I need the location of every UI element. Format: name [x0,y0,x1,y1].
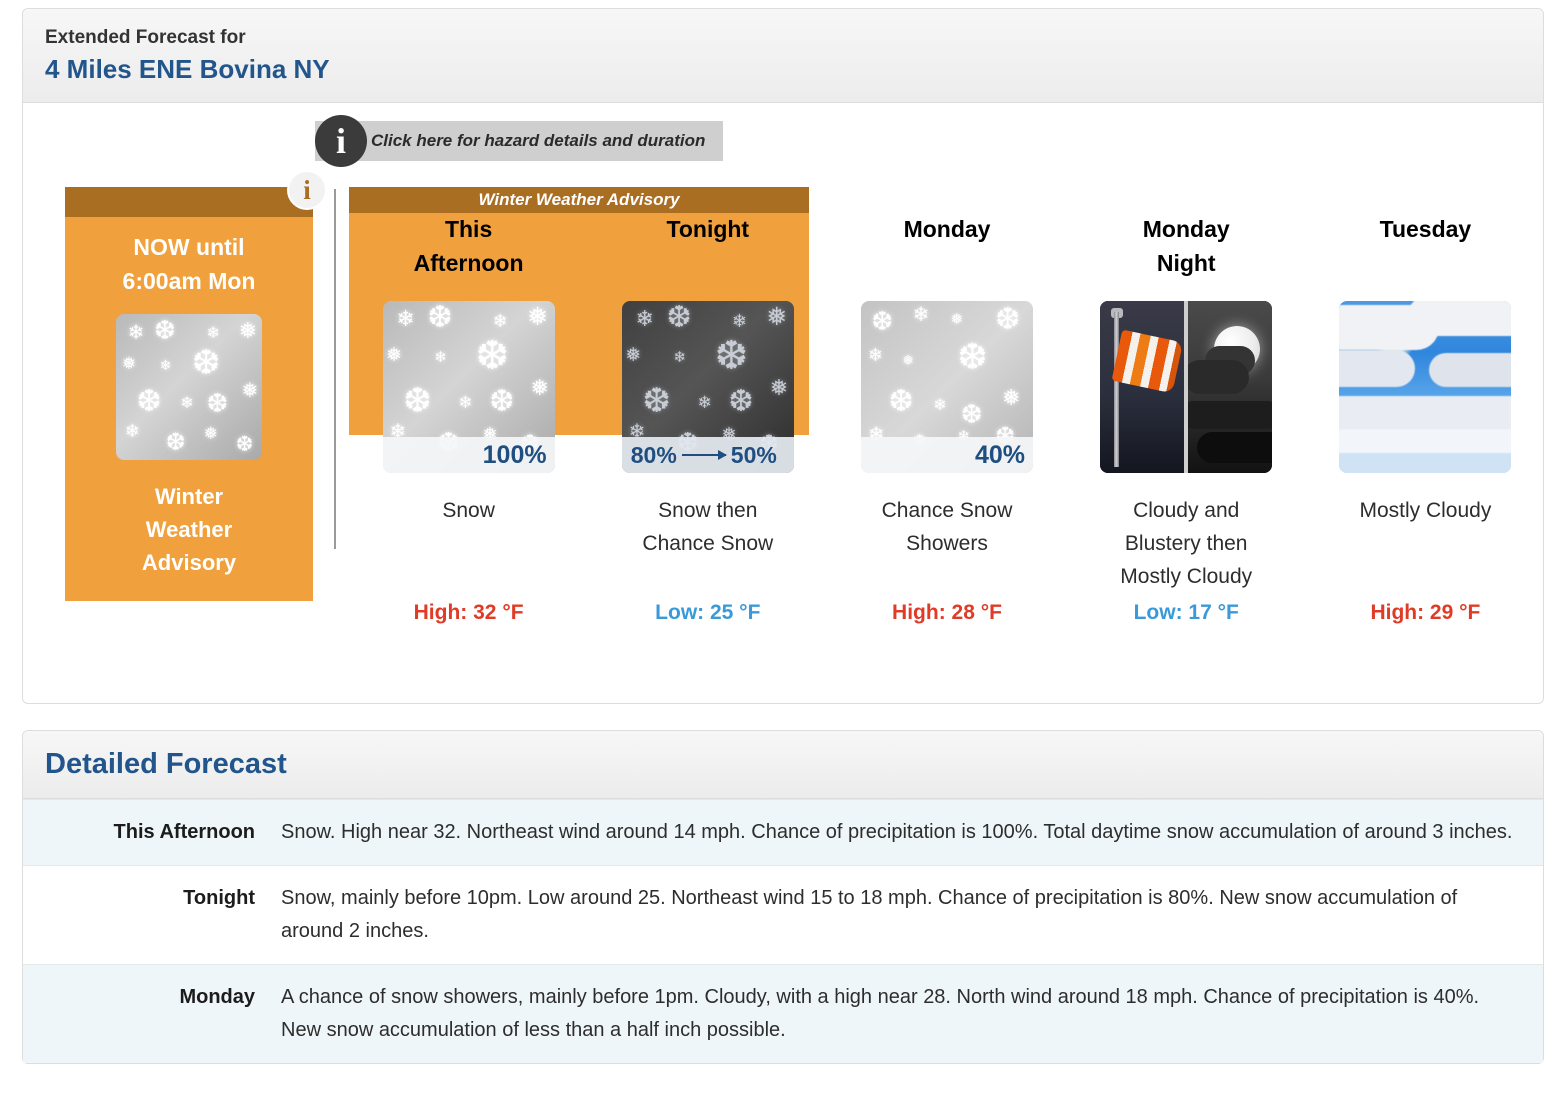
description-line2: Chance Snow [642,528,773,561]
detailed-forecast-table: This Afternoon Snow. High near 32. North… [23,799,1543,1063]
forecast-column-monday[interactable]: Monday ❆ ❄ ❅ ❆ ❄ ❅ ❆ [827,213,1066,625]
forecast-period-title: This Afternoon [414,213,524,283]
advisory-card-label: Winter Weather Advisory [142,480,236,579]
page-title[interactable]: 4 Miles ENE Bovina NY [45,53,1521,87]
mast [1114,312,1119,467]
description-line1: Chance Snow [882,495,1013,528]
advisory-icon-wrap: ❄ ❆ ❄ ❅ ❅ ❄ ❆ ❆ ❄ ❆ ❅ ❄ ❆ [116,314,262,460]
forecast-period-title: Monday Night [1143,213,1230,283]
period-title-line1: Monday [1143,213,1230,246]
detailed-forecast-header: Detailed Forecast [23,731,1543,799]
forecast-description: Cloudy and Blustery then Mostly Cloudy [1120,495,1252,595]
forecast-description: Snow [442,495,495,595]
snow-icon: ❄ ❆ ❄ ❅ ❅ ❄ ❆ ❆ ❄ ❆ ❅ ❄ [383,301,555,473]
windsock [1112,330,1184,393]
forecast-icon-wrap [1339,301,1511,473]
active-advisory-card[interactable]: i NOW until 6:00am Mon ❄ ❆ ❄ ❅ ❅ ❄ [65,187,313,601]
hazard-link-label: Click here for hazard details and durati… [371,131,705,151]
description-line1: Cloudy and [1120,495,1252,528]
advisory-band-title: Winter Weather Advisory [349,187,809,213]
forecast-temperature: High: 32 °F [414,601,524,625]
precip-chance-to: 50% [731,442,777,469]
period-title-line2: Night [1143,247,1230,280]
forecast-header: Extended Forecast for 4 Miles ENE Bovina… [23,9,1543,103]
cloud [1339,350,1415,388]
forecast-column-tuesday[interactable]: Tuesday [1306,213,1545,625]
snow-showers-icon: ❆ ❄ ❅ ❆ ❄ ❅ ❆ ❆ ❄ ❆ ❅ ❄ [861,301,1033,473]
forecast-temperature: High: 28 °F [892,601,1002,625]
advisory-label-line2: Weather [142,513,236,546]
forecast-temperature: Low: 25 °F [655,601,760,625]
precip-chance-strip: 80% 50% [622,437,794,473]
cloud [1188,401,1272,429]
forecast-body: i Click here for hazard details and dura… [23,103,1543,703]
snow-icon: ❄ ❆ ❄ ❅ ❅ ❄ ❆ ❆ ❄ ❆ ❅ ❄ ❆ [116,314,262,460]
weather-forecast-page: Extended Forecast for 4 Miles ENE Bovina… [0,8,1566,1064]
moon-cloudy-icon [1188,301,1272,473]
detailed-forecast-panel: Detailed Forecast This Afternoon Snow. H… [22,730,1544,1064]
forecast-description: Mostly Cloudy [1359,495,1491,595]
detail-period-text: A chance of snow showers, mainly before … [281,981,1517,1047]
period-title-line2: Afternoon [414,247,524,280]
forecast-columns: This Afternoon ❄ ❆ ❄ ❅ ❅ ❄ [349,213,1545,625]
detail-period-label: This Afternoon [49,816,281,849]
info-icon: i [315,115,367,167]
mostly-cloudy-icon [1339,301,1511,473]
description-line2: Showers [882,528,1013,561]
detail-period-label: Tonight [49,882,281,948]
forecast-period-title: Tonight [667,213,750,283]
forecast-description: Snow then Chance Snow [642,495,773,595]
precip-chance-range: 80% 50% [622,442,786,469]
description-line1: Snow [442,495,495,528]
description-line2: Blustery then [1120,528,1252,561]
forecast-column-monday-night[interactable]: Monday Night [1067,213,1306,625]
windy-night-cloudy-icon [1100,301,1272,473]
cloud [1339,453,1511,474]
hazard-details-link[interactable]: i Click here for hazard details and dura… [315,121,723,161]
windsock-icon [1100,301,1184,473]
cloud [1197,432,1273,463]
period-title-line1: Tonight [667,213,750,246]
forecast-description: Chance Snow Showers [882,495,1013,595]
forecast-icon-wrap: ❆ ❄ ❅ ❆ ❄ ❅ ❆ ❆ ❄ ❆ ❅ ❄ [861,301,1033,473]
advisory-label-line3: Advisory [142,546,236,579]
detail-row: Monday A chance of snow showers, mainly … [23,964,1543,1063]
snow-night-icon: ❄ ❆ ❄ ❅ ❅ ❄ ❆ ❆ ❄ ❆ ❅ ❄ [622,301,794,473]
advisory-valid-time-line1: NOW until [123,231,256,264]
forecast-temperature: Low: 17 °F [1134,601,1239,625]
forecast-temperature: High: 29 °F [1370,601,1480,625]
section-divider [334,189,336,549]
forecast-column-tonight[interactable]: Tonight ❄ ❆ ❄ ❅ ❅ ❄ ❆ [588,213,827,625]
detail-row: Tonight Snow, mainly before 10pm. Low ar… [23,865,1543,964]
cloud [1339,396,1511,430]
detailed-forecast-title: Detailed Forecast [45,747,1521,782]
advisory-card-cap: i [65,187,313,217]
advisory-label-line1: Winter [142,480,236,513]
description-line3: Mostly Cloudy [1120,561,1252,594]
detail-period-label: Monday [49,981,281,1047]
arrow-right-icon [682,454,726,456]
forecast-icon-wrap [1100,301,1272,473]
precip-chance-from: 80% [631,442,677,469]
forecast-period-title: Tuesday [1380,213,1472,283]
precip-chance-value: 40% [975,441,1025,470]
advisory-valid-time-line2: 6:00am Mon [123,265,256,298]
advisory-valid-time: NOW until 6:00am Mon [123,231,256,298]
precip-chance-strip: 40% [861,437,1033,473]
period-title-line1: Monday [904,213,991,246]
forecast-icon-wrap: ❄ ❆ ❄ ❅ ❅ ❄ ❆ ❆ ❄ ❆ ❅ ❄ [622,301,794,473]
forecast-column-this-afternoon[interactable]: This Afternoon ❄ ❆ ❄ ❅ ❅ ❄ [349,213,588,625]
forecast-eyebrow: Extended Forecast for [45,25,1521,51]
detail-period-text: Snow. High near 32. Northeast wind aroun… [281,816,1517,849]
period-title-line1: This [414,213,524,246]
detail-period-text: Snow, mainly before 10pm. Low around 25.… [281,882,1517,948]
detail-row: This Afternoon Snow. High near 32. North… [23,799,1543,865]
snowflake-pattern: ❄ ❆ ❄ ❅ ❅ ❄ ❆ ❆ ❄ ❆ ❅ ❄ ❆ [116,314,262,460]
description-line1: Snow then [642,495,773,528]
info-icon[interactable]: i [287,170,327,210]
precip-chance-strip: 100% [383,437,555,473]
extended-forecast-panel: Extended Forecast for 4 Miles ENE Bovina… [22,8,1544,704]
cloud [1188,360,1248,394]
period-title-line1: Tuesday [1380,213,1472,246]
description-line1: Mostly Cloudy [1359,495,1491,528]
cloud [1429,353,1512,387]
forecast-icon-wrap: ❄ ❆ ❄ ❅ ❅ ❄ ❆ ❆ ❄ ❆ ❅ ❄ [383,301,555,473]
forecast-period-title: Monday [904,213,991,283]
cloud [1408,301,1511,335]
precip-chance-value: 100% [483,441,547,470]
